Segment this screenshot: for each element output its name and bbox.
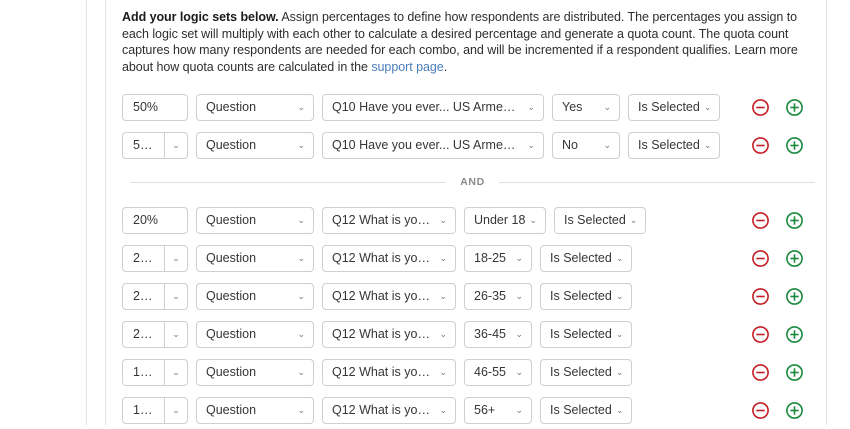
chevron-down-icon: ⌄	[297, 406, 313, 415]
question-select-value: Q12 What is your age?	[323, 403, 439, 417]
question-select-value: Q10 Have you ever... US Armed Forces?	[323, 138, 527, 152]
question-select-value: Q10 Have you ever... US Armed Forces?	[323, 100, 527, 114]
operator-select[interactable]: Is Selected⌄	[628, 94, 720, 121]
and-label: AND	[446, 176, 499, 188]
source-select[interactable]: Question⌄	[196, 321, 314, 348]
source-select-value: Question	[197, 365, 262, 379]
question-select[interactable]: Q12 What is your age?⌄	[322, 359, 456, 386]
choice-select[interactable]: Under 18⌄	[464, 207, 546, 234]
add-row-button[interactable]	[784, 135, 804, 155]
add-row-button[interactable]	[784, 210, 804, 230]
operator-select-value: Is Selected	[541, 289, 616, 303]
chevron-down-icon: ⌄	[527, 103, 543, 112]
percentage-input[interactable]: 50%	[122, 94, 188, 121]
and-divider: AND	[106, 167, 826, 197]
question-select[interactable]: Q10 Have you ever... US Armed Forces?⌄	[322, 132, 544, 159]
chevron-down-icon: ⌄	[439, 216, 455, 225]
choice-select-value: 46-55	[465, 365, 512, 379]
remove-row-button[interactable]	[750, 135, 770, 155]
chevron-down-icon: ⌄	[529, 216, 545, 225]
choice-select-value: 56+	[465, 403, 501, 417]
chevron-down-icon: ⌄	[439, 330, 455, 339]
source-select[interactable]: Question⌄	[196, 94, 314, 121]
logic-row: 20%⌄Question⌄Q12 What is your age?⌄36-45…	[122, 315, 826, 353]
source-select[interactable]: Question⌄	[196, 207, 314, 234]
chevron-down-icon: ⌄	[704, 141, 720, 150]
choice-select[interactable]: 18-25⌄	[464, 245, 532, 272]
divider-line-right	[499, 182, 815, 183]
chevron-down-icon: ⌄	[297, 141, 313, 150]
chevron-down-icon: ⌄	[603, 103, 619, 112]
chevron-down-icon: ⌄	[297, 216, 313, 225]
remove-row-button[interactable]	[750, 286, 770, 306]
operator-select[interactable]: Is Selected⌄	[628, 132, 720, 159]
chevron-down-icon: ⌄	[297, 368, 313, 377]
question-select-value: Q12 What is your age?	[323, 327, 439, 341]
choice-select[interactable]: No⌄	[552, 132, 620, 159]
choice-select-value: Yes	[553, 100, 588, 114]
percentage-value: 50%	[123, 138, 164, 152]
chevron-down-icon: ⌄	[515, 330, 531, 339]
chevron-down-icon: ⌄	[515, 368, 531, 377]
question-select[interactable]: Q12 What is your age?⌄	[322, 321, 456, 348]
chevron-down-icon: ⌄	[515, 406, 531, 415]
percentage-value: 10%	[123, 365, 164, 379]
operator-select-value: Is Selected	[629, 138, 704, 152]
operator-select-value: Is Selected	[629, 100, 704, 114]
source-select-value: Question	[197, 251, 262, 265]
operator-select-value: Is Selected	[541, 365, 616, 379]
percentage-stepper-chevron-down-icon[interactable]: ⌄	[164, 360, 187, 385]
add-row-button[interactable]	[784, 362, 804, 382]
chevron-down-icon: ⌄	[616, 292, 632, 301]
percentage-input[interactable]: 10%⌄	[122, 359, 188, 386]
percentage-value: 10%	[123, 403, 164, 417]
source-select-value: Question	[197, 213, 262, 227]
logic-row: 20%Question⌄Q12 What is your age?⌄Under …	[122, 201, 826, 239]
choice-select-value: 36-45	[465, 327, 512, 341]
operator-select[interactable]: Is Selected⌄	[540, 283, 632, 310]
intro-lead: Add your logic sets below.	[122, 10, 279, 24]
source-select-value: Question	[197, 403, 262, 417]
operator-select-value: Is Selected	[541, 403, 616, 417]
percentage-input[interactable]: 20%	[122, 207, 188, 234]
source-select[interactable]: Question⌄	[196, 283, 314, 310]
question-select[interactable]: Q10 Have you ever... US Armed Forces?⌄	[322, 94, 544, 121]
percentage-input[interactable]: 20%⌄	[122, 283, 188, 310]
choice-select[interactable]: Yes⌄	[552, 94, 620, 121]
chevron-down-icon: ⌄	[630, 216, 646, 225]
question-select[interactable]: Q12 What is your age?⌄	[322, 397, 456, 424]
chevron-down-icon: ⌄	[439, 406, 455, 415]
quota-logic-panel: Add your logic sets below. Assign percen…	[106, 0, 826, 425]
percentage-stepper-chevron-down-icon[interactable]: ⌄	[164, 284, 187, 309]
chevron-down-icon: ⌄	[439, 254, 455, 263]
chevron-down-icon: ⌄	[439, 368, 455, 377]
operator-select[interactable]: Is Selected⌄	[540, 321, 632, 348]
source-select-value: Question	[197, 289, 262, 303]
intro-tail: .	[444, 60, 447, 74]
choice-select[interactable]: 46-55⌄	[464, 359, 532, 386]
question-select-value: Q12 What is your age?	[323, 365, 439, 379]
choice-select-value: 18-25	[465, 251, 512, 265]
remove-row-button[interactable]	[750, 248, 770, 268]
percentage-value: 50%	[123, 100, 164, 114]
percentage-value: 20%	[123, 327, 164, 341]
support-page-link[interactable]: support page	[371, 60, 443, 74]
percentage-input[interactable]: 20%⌄	[122, 245, 188, 272]
source-select-value: Question	[197, 327, 262, 341]
row-actions	[736, 135, 826, 155]
question-select[interactable]: Q12 What is your age?⌄	[322, 283, 456, 310]
chevron-down-icon: ⌄	[527, 141, 543, 150]
chevron-down-icon: ⌄	[603, 141, 619, 150]
chevron-down-icon: ⌄	[616, 330, 632, 339]
chevron-down-icon: ⌄	[515, 254, 531, 263]
question-select[interactable]: Q12 What is your age?⌄	[322, 207, 456, 234]
divider-line-left	[130, 182, 446, 183]
chevron-down-icon: ⌄	[616, 406, 632, 415]
remove-row-button[interactable]	[750, 97, 770, 117]
question-select-value: Q12 What is your age?	[323, 213, 439, 227]
remove-row-button[interactable]	[750, 324, 770, 344]
page-gutter-rule-outer	[86, 0, 87, 425]
percentage-stepper-chevron-down-icon[interactable]: ⌄	[164, 322, 187, 347]
row-actions	[736, 362, 826, 382]
intro-paragraph: Add your logic sets below. Assign percen…	[106, 9, 826, 75]
percentage-stepper-chevron-down-icon[interactable]: ⌄	[164, 133, 187, 158]
question-select-value: Q12 What is your age?	[323, 251, 439, 265]
logic-row: 50%⌄Question⌄Q10 Have you ever... US Arm…	[122, 126, 826, 164]
add-row-button[interactable]	[784, 286, 804, 306]
choice-select[interactable]: 56+⌄	[464, 397, 532, 424]
remove-row-button[interactable]	[750, 400, 770, 420]
operator-select[interactable]: Is Selected⌄	[540, 397, 632, 424]
source-select-value: Question	[197, 100, 262, 114]
logic-row: 10%⌄Question⌄Q12 What is your age?⌄46-55…	[122, 353, 826, 391]
logic-set-group-two: 20%Question⌄Q12 What is your age?⌄Under …	[106, 201, 826, 429]
percentage-value: 20%	[123, 251, 164, 265]
operator-select[interactable]: Is Selected⌄	[554, 207, 646, 234]
choice-select-value: 26-35	[465, 289, 512, 303]
source-select[interactable]: Question⌄	[196, 397, 314, 424]
source-select[interactable]: Question⌄	[196, 359, 314, 386]
row-actions	[736, 324, 826, 344]
percentage-value: 20%	[123, 213, 164, 227]
row-actions	[736, 97, 826, 117]
add-row-button[interactable]	[784, 400, 804, 420]
add-row-button[interactable]	[784, 324, 804, 344]
choice-select[interactable]: 36-45⌄	[464, 321, 532, 348]
choice-select-value: Under 18	[465, 213, 529, 227]
chevron-down-icon: ⌄	[616, 368, 632, 377]
row-actions	[736, 286, 826, 306]
page-gutter-rule-right	[826, 0, 827, 425]
add-row-button[interactable]	[784, 248, 804, 268]
percentage-input[interactable]: 50%⌄	[122, 132, 188, 159]
choice-select[interactable]: 26-35⌄	[464, 283, 532, 310]
operator-select-value: Is Selected	[541, 251, 616, 265]
question-select[interactable]: Q12 What is your age?⌄	[322, 245, 456, 272]
source-select[interactable]: Question⌄	[196, 132, 314, 159]
chevron-down-icon: ⌄	[297, 330, 313, 339]
question-select-value: Q12 What is your age?	[323, 289, 439, 303]
remove-row-button[interactable]	[750, 362, 770, 382]
percentage-value: 20%	[123, 289, 164, 303]
row-actions	[736, 400, 826, 420]
percentage-stepper-chevron-down-icon[interactable]: ⌄	[164, 398, 187, 423]
choice-select-value: No	[553, 138, 584, 152]
operator-select[interactable]: Is Selected⌄	[540, 245, 632, 272]
chevron-down-icon: ⌄	[297, 103, 313, 112]
chevron-down-icon: ⌄	[439, 292, 455, 301]
add-row-button[interactable]	[784, 97, 804, 117]
chevron-down-icon: ⌄	[297, 292, 313, 301]
percentage-input[interactable]: 20%⌄	[122, 321, 188, 348]
logic-row: 50%Question⌄Q10 Have you ever... US Arme…	[122, 88, 826, 126]
chevron-down-icon: ⌄	[616, 254, 632, 263]
chevron-down-icon: ⌄	[704, 103, 720, 112]
percentage-stepper-chevron-down-icon[interactable]: ⌄	[164, 246, 187, 271]
row-actions	[736, 210, 826, 230]
remove-row-button[interactable]	[750, 210, 770, 230]
logic-row: 20%⌄Question⌄Q12 What is your age?⌄26-35…	[122, 277, 826, 315]
chevron-down-icon: ⌄	[297, 254, 313, 263]
logic-row: 10%⌄Question⌄Q12 What is your age?⌄56+⌄I…	[122, 391, 826, 429]
operator-select-value: Is Selected	[541, 327, 616, 341]
logic-row: 20%⌄Question⌄Q12 What is your age?⌄18-25…	[122, 239, 826, 277]
source-select[interactable]: Question⌄	[196, 245, 314, 272]
operator-select-value: Is Selected	[555, 213, 630, 227]
chevron-down-icon: ⌄	[515, 292, 531, 301]
operator-select[interactable]: Is Selected⌄	[540, 359, 632, 386]
row-actions	[736, 248, 826, 268]
source-select-value: Question	[197, 138, 262, 152]
logic-set-group-one: 50%Question⌄Q10 Have you ever... US Arme…	[106, 88, 826, 164]
percentage-input[interactable]: 10%⌄	[122, 397, 188, 424]
